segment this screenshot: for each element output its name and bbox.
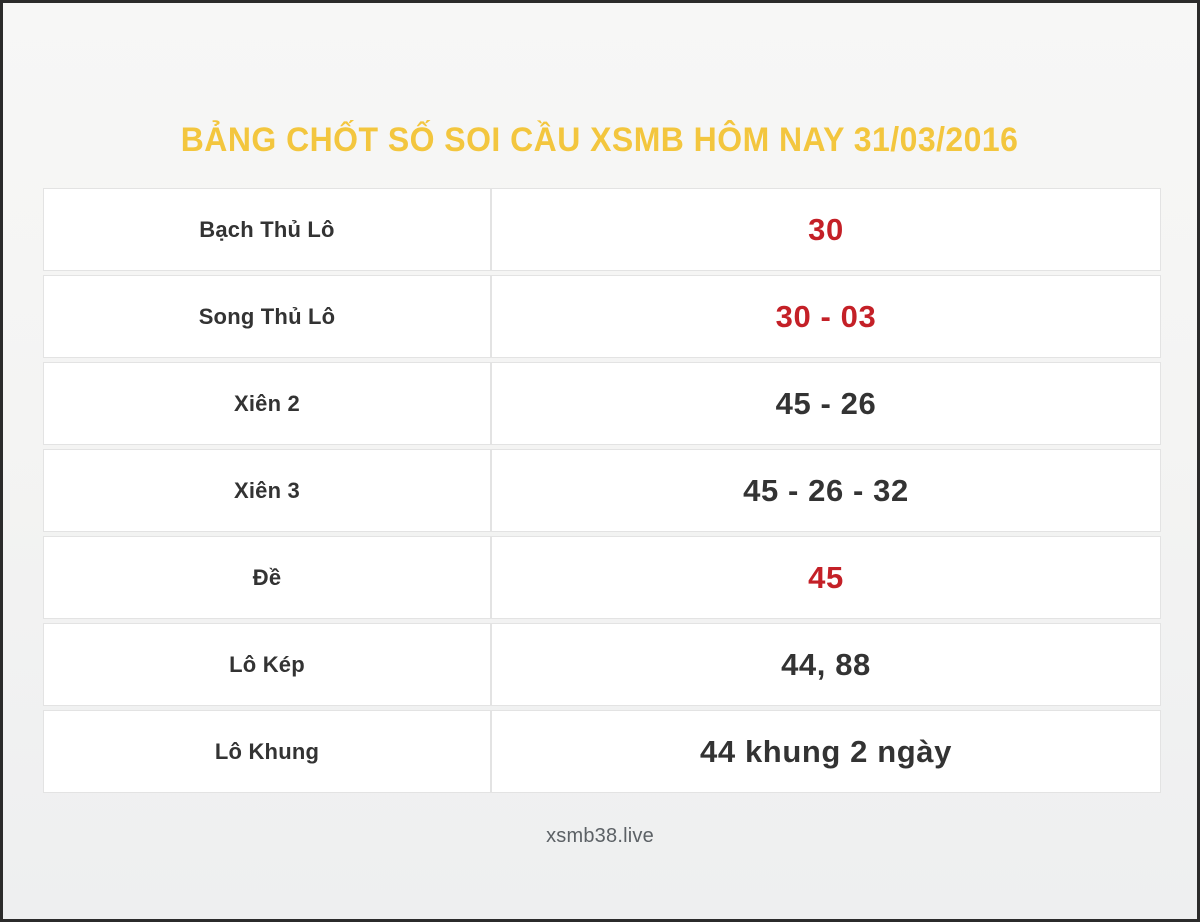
table-row: Xiên 345 - 26 - 32 [43, 449, 1161, 532]
title-bar: BẢNG CHỐT SỐ SOI CẦU XSMB HÔM NAY 31/03/… [3, 99, 1197, 182]
bet-number-value: 45 - 26 [491, 362, 1161, 445]
bet-type-label: Bạch Thủ Lô [43, 188, 491, 271]
bet-number-value: 45 - 26 - 32 [491, 449, 1161, 532]
page-title: BẢNG CHỐT SỐ SOI CẦU XSMB HÔM NAY 31/03/… [181, 122, 1019, 159]
page-container: BẢNG CHỐT SỐ SOI CẦU XSMB HÔM NAY 31/03/… [3, 3, 1197, 919]
table-body: Bạch Thủ Lô30Song Thủ Lô30 - 03Xiên 245 … [43, 188, 1161, 793]
site-footer: xsmb38.live [3, 825, 1197, 848]
table-row: Lô Kép44, 88 [43, 623, 1161, 706]
bet-number-value: 44, 88 [491, 623, 1161, 706]
bet-type-label: Lô Khung [43, 710, 491, 793]
site-url-label: xsmb38.live [546, 825, 654, 847]
bet-type-label: Lô Kép [43, 623, 491, 706]
bet-number-value: 30 [491, 188, 1161, 271]
table-row: Lô Khung44 khung 2 ngày [43, 710, 1161, 793]
bet-type-label: Xiên 2 [43, 362, 491, 445]
table-row: Bạch Thủ Lô30 [43, 188, 1161, 271]
bet-number-value: 30 - 03 [491, 275, 1161, 358]
lottery-prediction-table: Bạch Thủ Lô30Song Thủ Lô30 - 03Xiên 245 … [43, 184, 1161, 797]
bet-type-label: Song Thủ Lô [43, 275, 491, 358]
bet-number-value: 44 khung 2 ngày [491, 710, 1161, 793]
table-row: Đề45 [43, 536, 1161, 619]
bet-type-label: Xiên 3 [43, 449, 491, 532]
bet-type-label: Đề [43, 536, 491, 619]
bet-number-value: 45 [491, 536, 1161, 619]
table-row: Song Thủ Lô30 - 03 [43, 275, 1161, 358]
table-row: Xiên 245 - 26 [43, 362, 1161, 445]
